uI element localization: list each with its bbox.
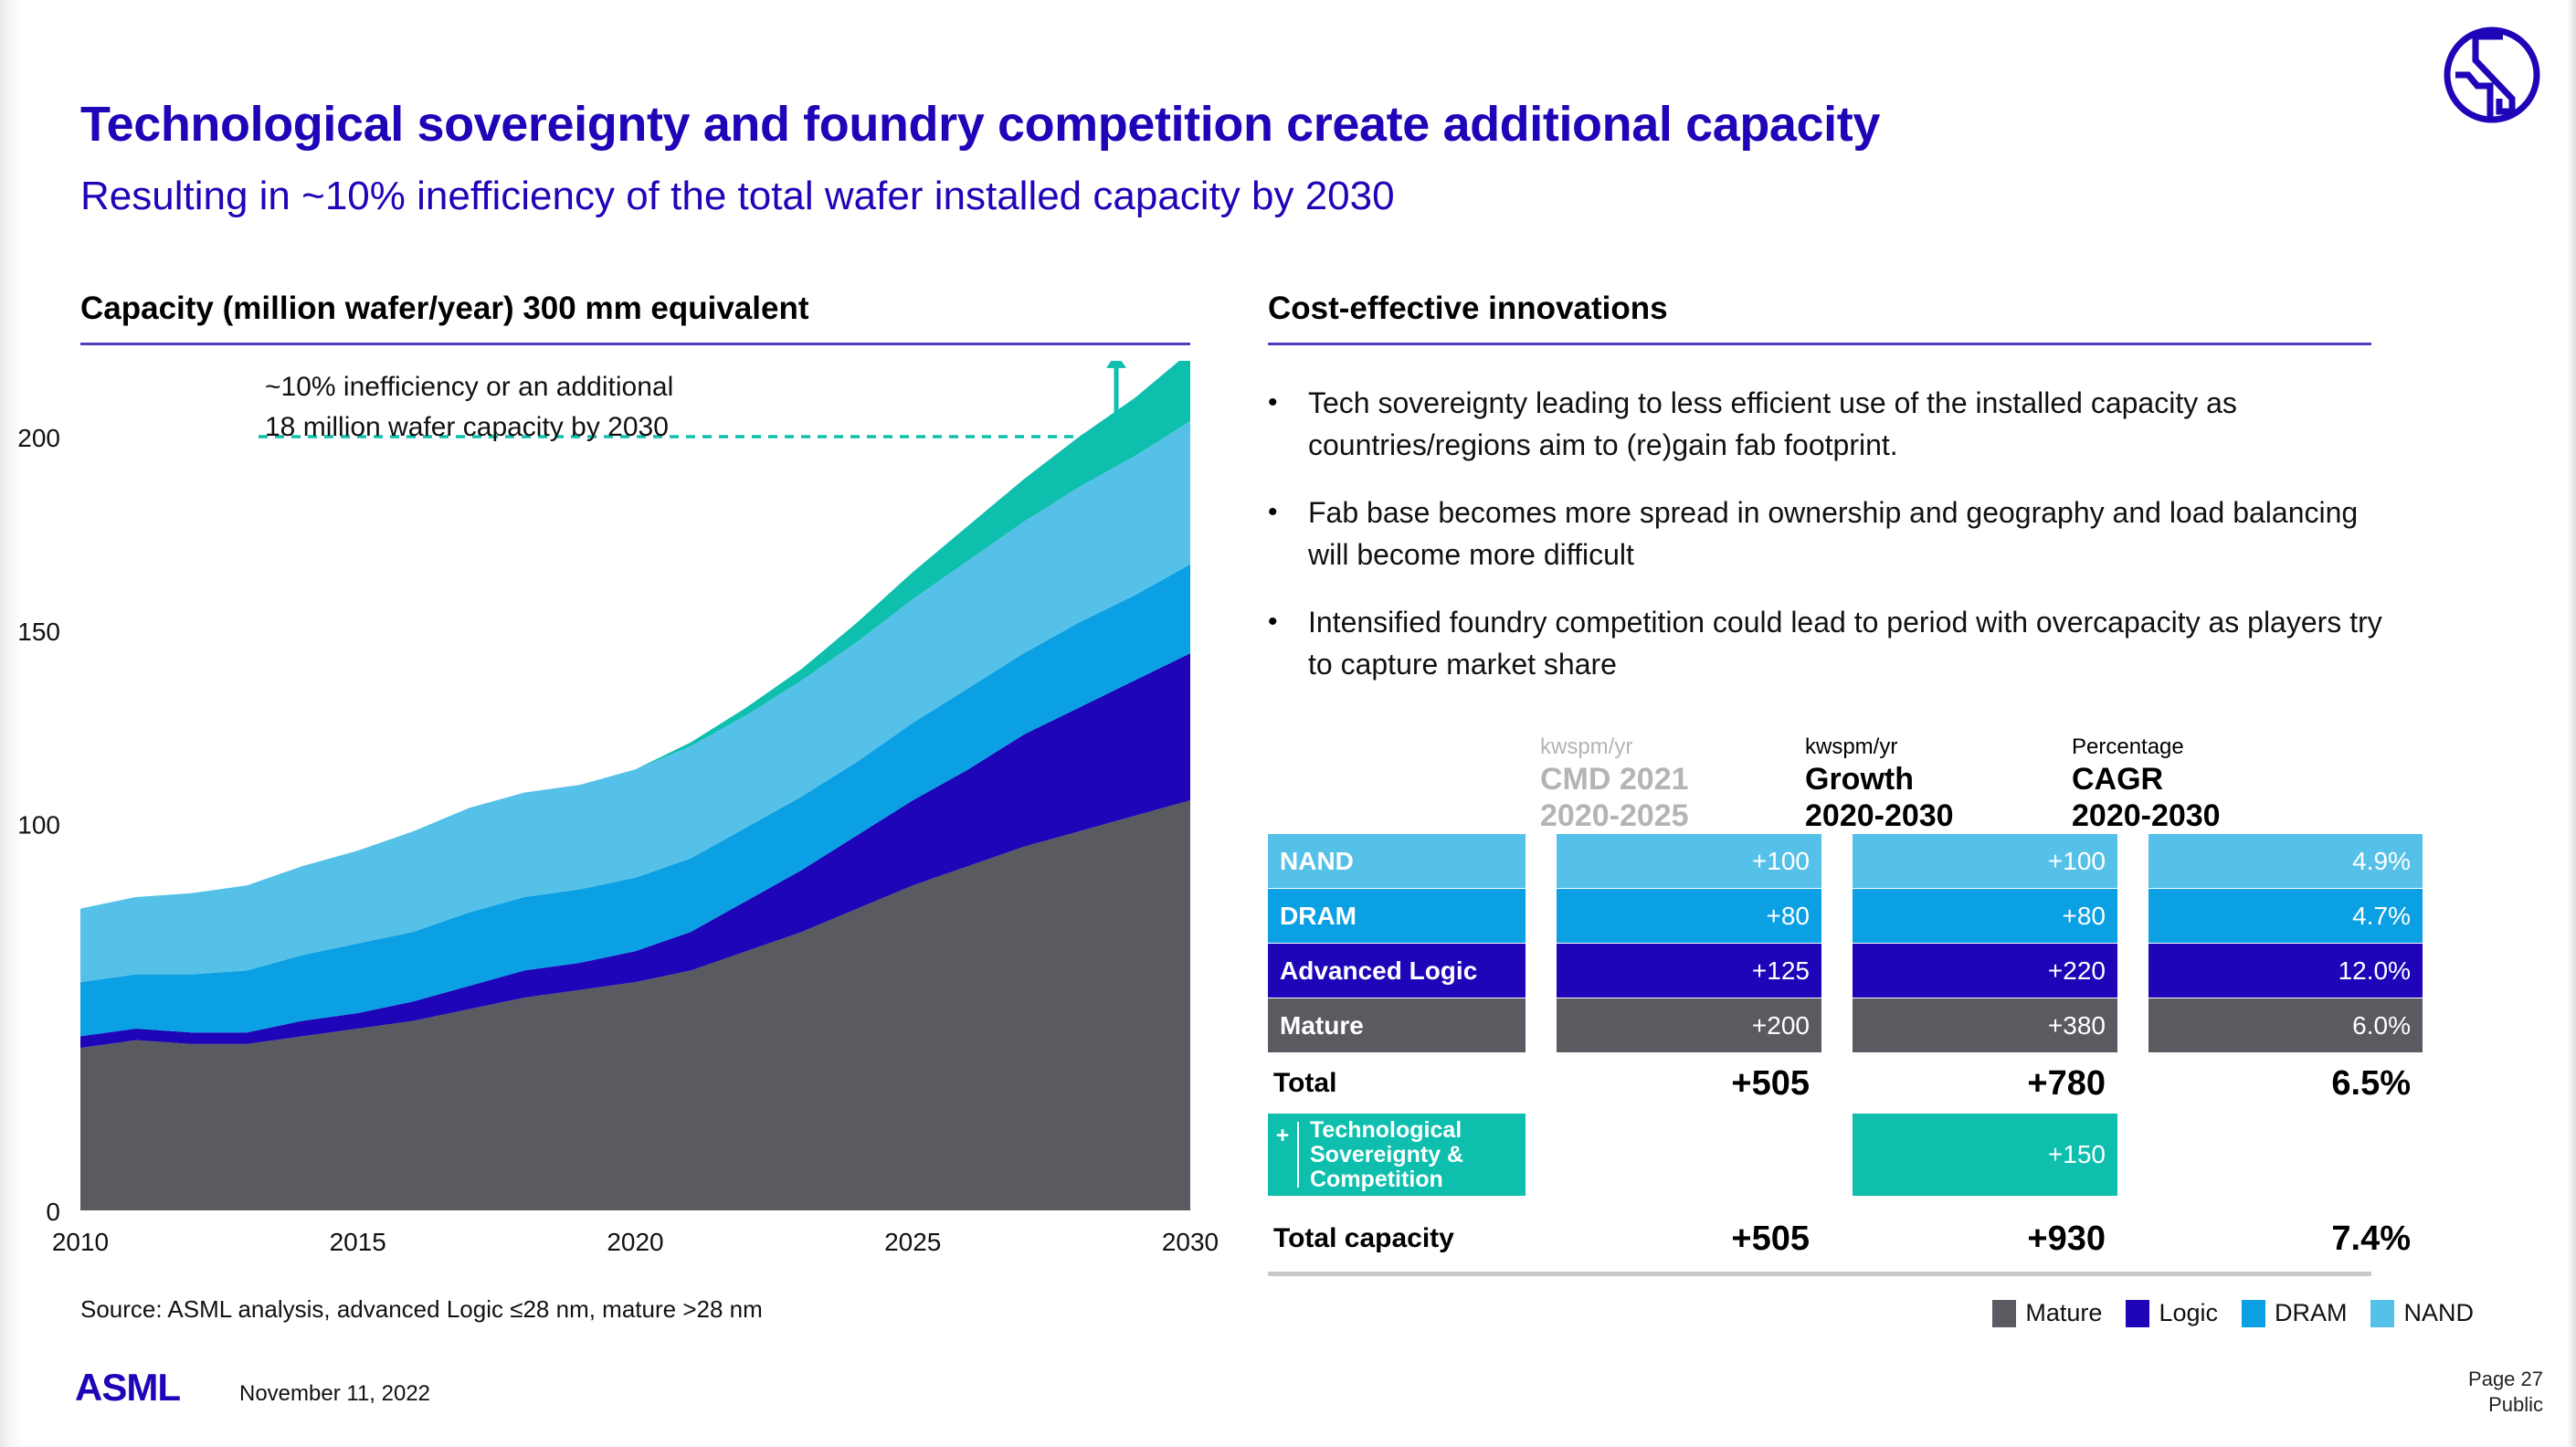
- panel-title-divider: [1268, 343, 2371, 345]
- legend-swatch-icon: [2126, 1300, 2149, 1327]
- column-unit: Percentage: [2072, 734, 2329, 760]
- legend-item-logic: Logic: [2126, 1299, 2218, 1327]
- cell-cmd: +505: [1557, 1064, 1821, 1104]
- cell-cagr: 4.9%: [2148, 834, 2423, 888]
- cell-gap: [1821, 1114, 1853, 1196]
- cell-gap: [2117, 889, 2148, 943]
- column-header-cmd2021: kwspm/yr CMD 2021 2020-2025: [1526, 734, 1790, 834]
- table-row: DRAM +80 +80 4.7%: [1268, 889, 2371, 943]
- y-axis-tick-label: 150: [17, 618, 60, 646]
- cell-cmd: +125: [1557, 944, 1821, 998]
- x-axis-tick-label: 2025: [884, 1228, 941, 1256]
- panel-title: Cost-effective innovations: [1268, 290, 1668, 327]
- column-title: Growth: [1805, 761, 2055, 797]
- column-header-cagr: Percentage CAGR 2020-2030: [2055, 734, 2329, 834]
- cell-growth: +380: [1853, 998, 2117, 1052]
- cell-cagr: 12.0%: [2148, 944, 2423, 998]
- footer-date: November 11, 2022: [239, 1381, 430, 1407]
- legend-swatch-icon: [2242, 1300, 2265, 1327]
- cell-growth: +150: [1853, 1114, 2117, 1196]
- column-title: CAGR: [2072, 761, 2329, 797]
- cell-gap: [2117, 998, 2148, 1052]
- cell-growth: +780: [1853, 1064, 2117, 1104]
- cell-cagr: 6.0%: [2148, 998, 2423, 1052]
- cell-gap: [2117, 944, 2148, 998]
- cell-cmd: +505: [1557, 1220, 1821, 1259]
- cell-cmd: +100: [1557, 834, 1821, 888]
- row-label: Total: [1268, 1068, 1526, 1099]
- x-axis-tick-label: 2010: [52, 1228, 109, 1256]
- y-axis-tick-label: 0: [46, 1198, 60, 1226]
- column-range: 2020-2030: [2072, 797, 2329, 834]
- bullet-dot-icon: •: [1268, 382, 1308, 466]
- bullet-dot-icon: •: [1268, 601, 1308, 685]
- legend-label: Mature: [2025, 1299, 2102, 1327]
- legend-label: DRAM: [2275, 1299, 2348, 1327]
- column-range: 2020-2030: [1805, 797, 2055, 834]
- cell-growth: +100: [1853, 834, 2117, 888]
- legend-label: Logic: [2159, 1299, 2218, 1327]
- asml-wordmark: ASML: [75, 1366, 180, 1410]
- table-row: Mature +200 +380 6.0%: [1268, 998, 2371, 1052]
- cell-gap: [1526, 834, 1557, 888]
- chart-annotation-line-1: ~10% inefficiency or an additional: [265, 372, 673, 402]
- legend-swatch-icon: [2370, 1300, 2394, 1327]
- legend-item-mature: Mature: [1992, 1299, 2102, 1327]
- cell-gap: [2117, 834, 2148, 888]
- y-axis-tick-label: 100: [17, 811, 60, 840]
- capacity-stacked-area-chart: 010015020020102015202020252030~10% ineff…: [0, 361, 1224, 1274]
- legend-item-nand: NAND: [2370, 1299, 2474, 1327]
- plus-sign-icon: +: [1268, 1118, 1297, 1148]
- arrow-head-icon: [1106, 361, 1126, 368]
- y-axis-tick-label: 200: [17, 424, 60, 452]
- x-axis-tick-label: 2020: [607, 1228, 663, 1256]
- row-label: Advanced Logic: [1268, 944, 1526, 998]
- cell-cmd-empty: [1557, 1114, 1821, 1196]
- column-unit: kwspm/yr: [1540, 734, 1790, 760]
- cell-cagr: 6.5%: [2148, 1064, 2423, 1104]
- row-label-text: Technological Sovereignty & Competition: [1299, 1118, 1526, 1192]
- column-range: 2020-2025: [1540, 797, 1790, 834]
- cell-cagr: 7.4%: [2148, 1220, 2423, 1259]
- column-header-growth: kwspm/yr Growth 2020-2030: [1790, 734, 2055, 834]
- x-axis-tick-label: 2015: [330, 1228, 386, 1256]
- chart-legend: Mature Logic DRAM NAND: [1969, 1299, 2474, 1327]
- table-bottom-divider: [1268, 1272, 2371, 1276]
- table-row-tech-sovereignty: + Technological Sovereignty & Competitio…: [1268, 1114, 2371, 1196]
- cell-gap: [1526, 1114, 1557, 1196]
- table-row-total: Total +505 +780 6.5%: [1268, 1053, 2371, 1114]
- row-label-tech-sovereignty: + Technological Sovereignty & Competitio…: [1268, 1114, 1526, 1196]
- column-unit: kwspm/yr: [1805, 734, 2055, 760]
- chart-annotation-line-2: 18 million wafer capacity by 2030: [265, 412, 669, 442]
- cell-gap: [1821, 944, 1853, 998]
- cell-gap: [2117, 1114, 2148, 1196]
- row-label: NAND: [1268, 834, 1526, 888]
- column-title: CMD 2021: [1540, 761, 1790, 797]
- page-edge-right: [2567, 0, 2576, 1447]
- bullet-text: Fab base becomes more spread in ownershi…: [1308, 491, 2401, 576]
- cell-growth: +220: [1853, 944, 2117, 998]
- cell-cmd: +200: [1557, 998, 1821, 1052]
- legend-swatch-icon: [1992, 1300, 2016, 1327]
- cell-growth: +930: [1853, 1220, 2117, 1259]
- table-row: Advanced Logic +125 +220 12.0%: [1268, 944, 2371, 998]
- row-label: Mature: [1268, 998, 1526, 1052]
- cell-cmd: +80: [1557, 889, 1821, 943]
- row-label: Total capacity: [1268, 1223, 1526, 1254]
- legend-label: NAND: [2403, 1299, 2474, 1327]
- list-item: • Tech sovereignty leading to less effic…: [1268, 382, 2401, 466]
- source-note: Source: ASML analysis, advanced Logic ≤2…: [80, 1295, 763, 1324]
- asml-circle-logo-icon: [2441, 24, 2543, 126]
- table-header-row: kwspm/yr CMD 2021 2020-2025 kwspm/yr Gro…: [1268, 708, 2371, 834]
- classification-label: Public: [2468, 1392, 2543, 1418]
- bullet-text: Tech sovereignty leading to less efficie…: [1308, 382, 2401, 466]
- table-row-total-capacity: Total capacity +505 +930 7.4%: [1268, 1209, 2371, 1269]
- chart-title-divider: [80, 343, 1190, 345]
- bullet-text: Intensified foundry competition could le…: [1308, 601, 2401, 685]
- bullet-dot-icon: •: [1268, 491, 1308, 576]
- list-item: • Fab base becomes more spread in owners…: [1268, 491, 2401, 576]
- page-subtitle: Resulting in ~10% inefficiency of the to…: [80, 174, 2273, 219]
- cell-cagr-empty: [2148, 1114, 2423, 1196]
- cell-growth: +80: [1853, 889, 2117, 943]
- cell-gap: [1821, 998, 1853, 1052]
- x-axis-tick-label: 2030: [1162, 1228, 1219, 1256]
- row-label: DRAM: [1268, 889, 1526, 943]
- capacity-summary-table: kwspm/yr CMD 2021 2020-2025 kwspm/yr Gro…: [1268, 708, 2371, 1269]
- cell-gap: [1821, 889, 1853, 943]
- footer-page-info: Page 27 Public: [2468, 1367, 2543, 1418]
- cell-cagr: 4.7%: [2148, 889, 2423, 943]
- legend-item-dram: DRAM: [2242, 1299, 2348, 1327]
- list-item: • Intensified foundry competition could …: [1268, 601, 2401, 685]
- table-row: NAND +100 +100 4.9%: [1268, 834, 2371, 888]
- chart-title: Capacity (million wafer/year) 300 mm equ…: [80, 290, 809, 327]
- insights-bullet-list: • Tech sovereignty leading to less effic…: [1268, 382, 2401, 711]
- cell-gap: [1526, 889, 1557, 943]
- cell-gap: [1526, 998, 1557, 1052]
- cell-gap: [1821, 834, 1853, 888]
- page-title: Technological sovereignty and foundry co…: [80, 96, 2419, 153]
- page-number: Page 27: [2468, 1367, 2543, 1392]
- cell-gap: [1526, 944, 1557, 998]
